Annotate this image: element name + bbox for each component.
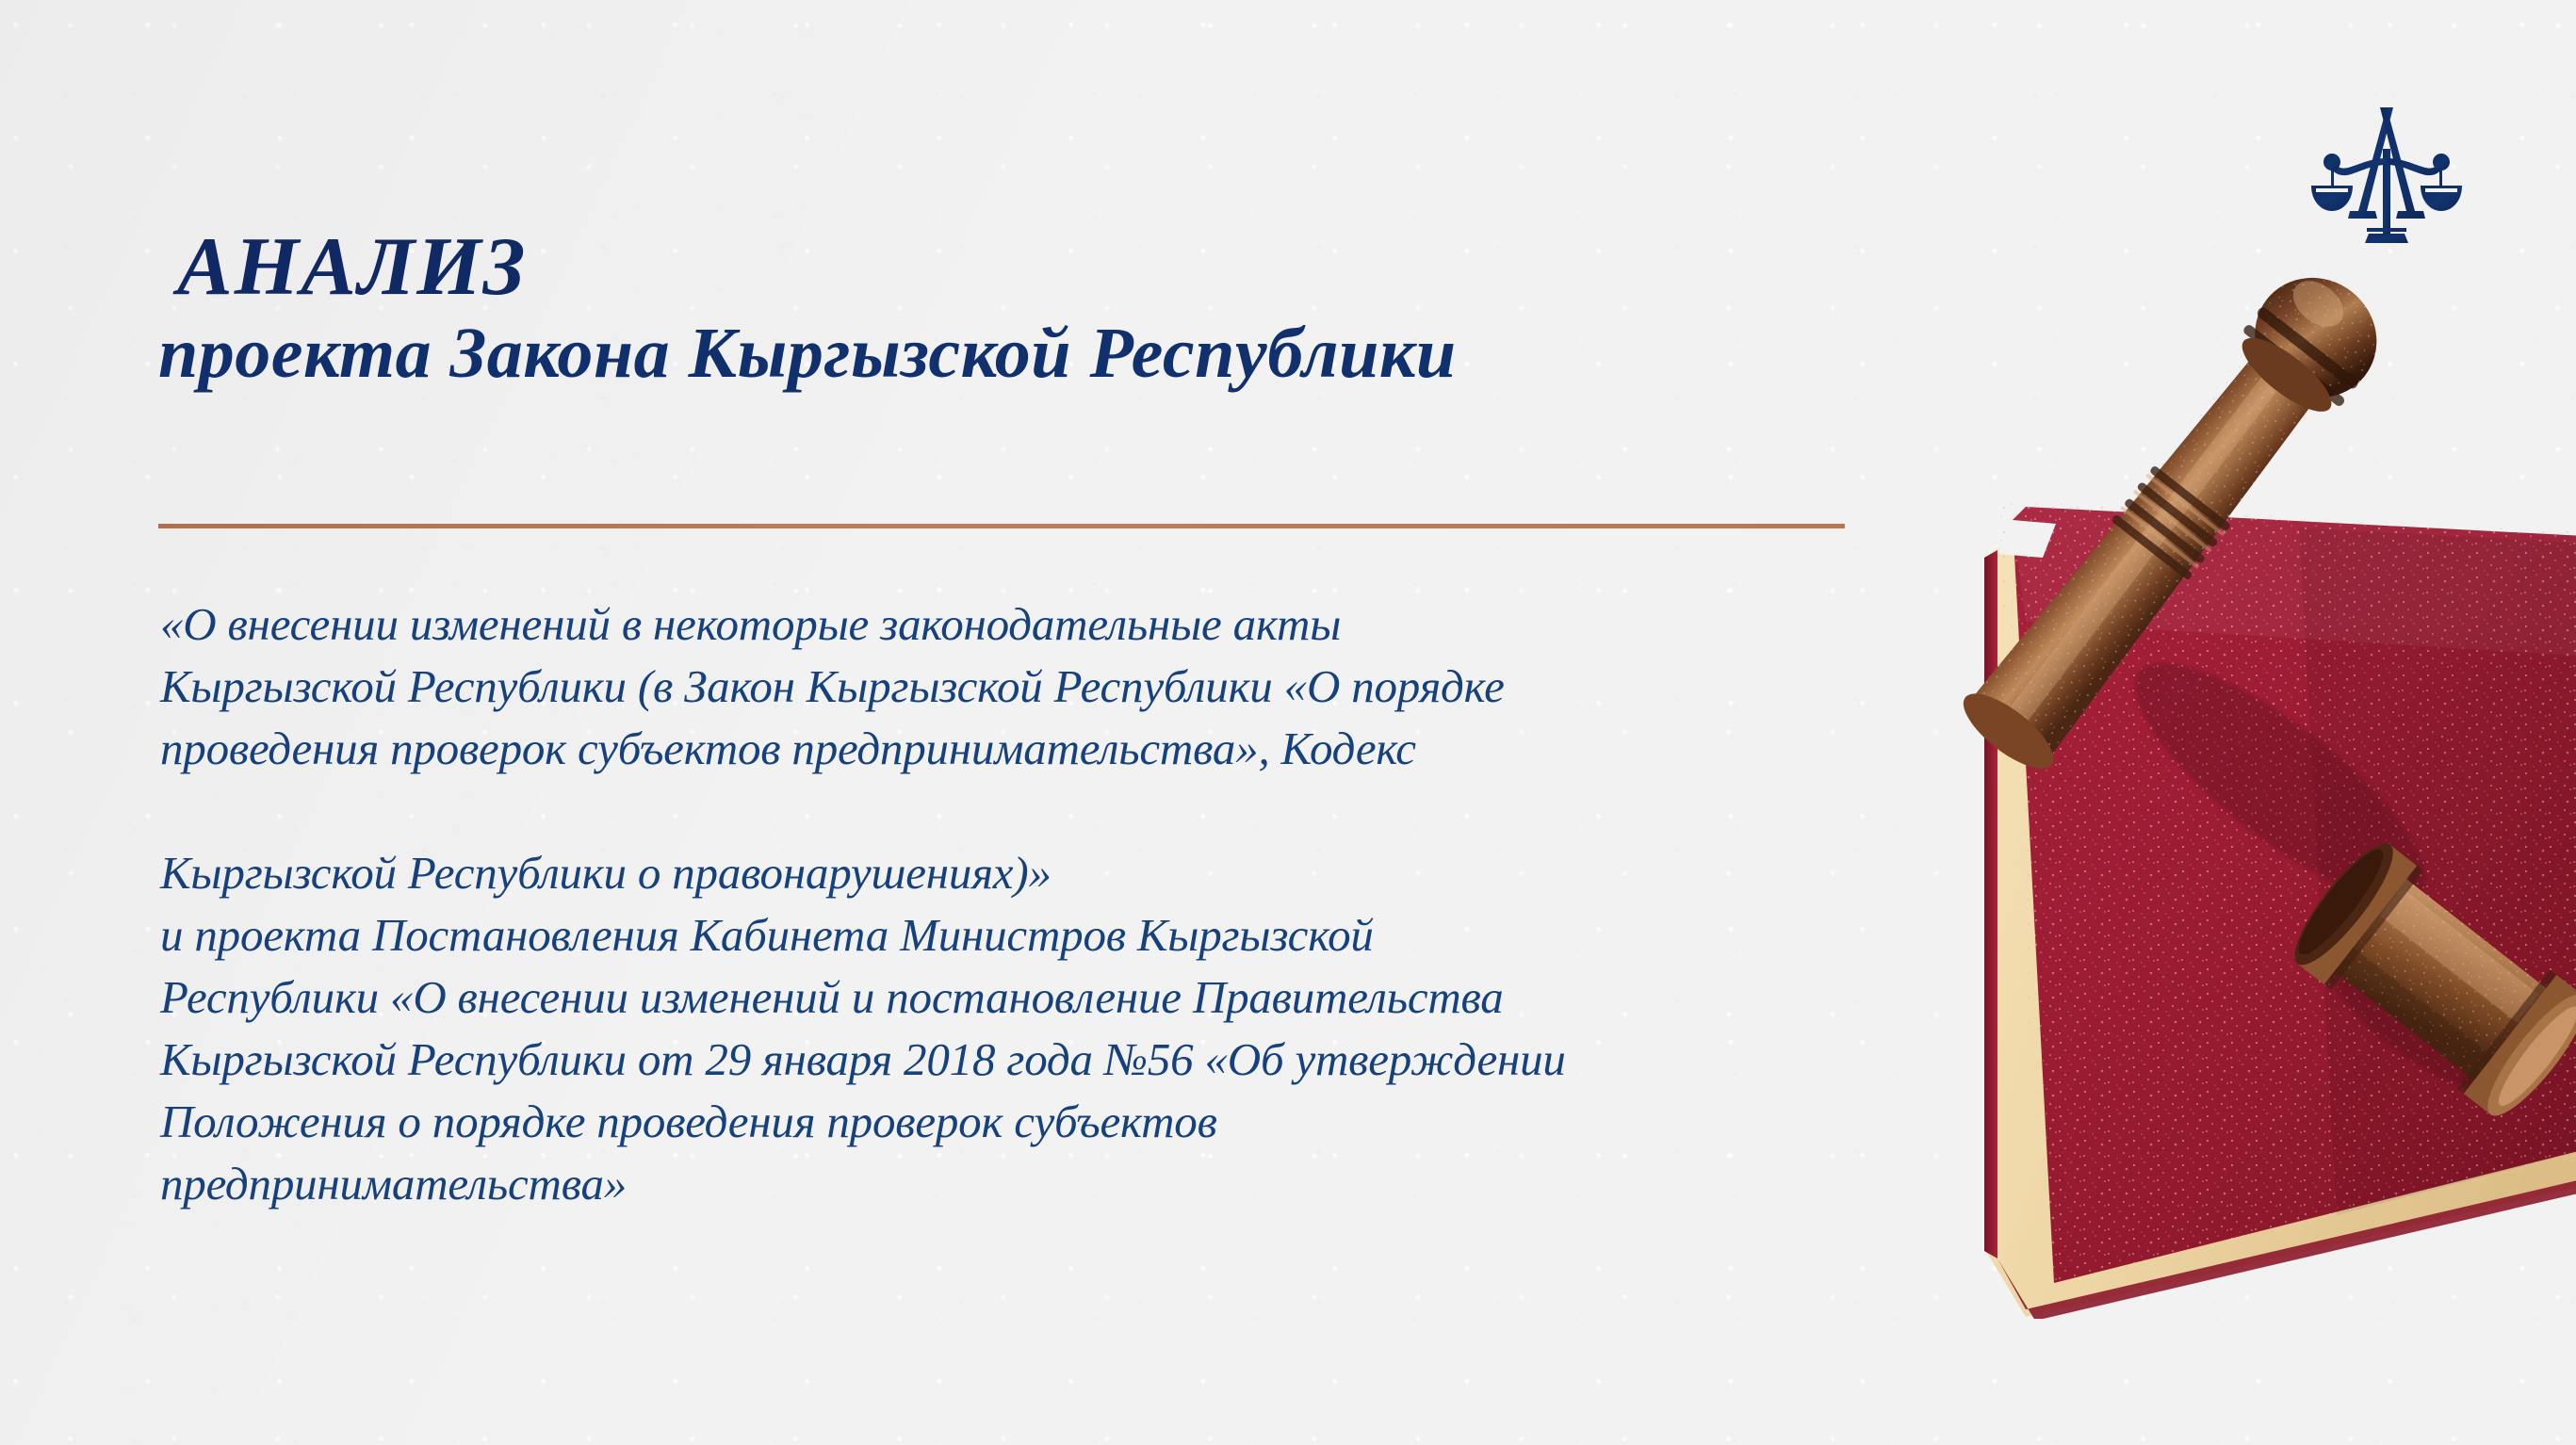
gavel <box>1947 253 2576 1133</box>
body-line: предпринимательства» <box>160 1153 1969 1215</box>
slide-title: АНАЛИЗ проекта Закона Кыргызской Республ… <box>158 226 1854 392</box>
title-subheading: проекта Закона Кыргызской Республики <box>158 315 1854 392</box>
body-line: Республики «О внесении изменений и поста… <box>160 966 1969 1029</box>
title-heading: АНАЛИЗ <box>177 226 1854 309</box>
body-line-spacer <box>160 780 1969 842</box>
book-cover <box>2013 507 2576 1283</box>
body-line: Кыргызской Республики от 29 января 2018 … <box>160 1029 1969 1091</box>
body-line: Кыргызской Республики (в Закон Кыргызско… <box>160 656 1969 718</box>
body-line: Положения о порядке проведения проверок … <box>160 1091 1969 1153</box>
body-line: Кыргызской Республики о правонарушениях)… <box>160 842 1969 904</box>
presentation-slide: АНАЛИЗ проекта Закона Кыргызской Республ… <box>0 0 2576 1445</box>
book-page-block <box>1984 539 2576 1317</box>
slide-body-text: «О внесении изменений в некоторые законо… <box>160 593 1969 1215</box>
body-line: «О внесении изменений в некоторые законо… <box>160 593 1969 656</box>
title-divider-rule <box>158 524 1845 528</box>
body-line: и проекта Постановления Кабинета Министр… <box>160 904 1969 966</box>
body-line: проведения проверок субъектов предприним… <box>160 718 1969 780</box>
scales-of-justice-letter-a-icon <box>2307 90 2467 255</box>
